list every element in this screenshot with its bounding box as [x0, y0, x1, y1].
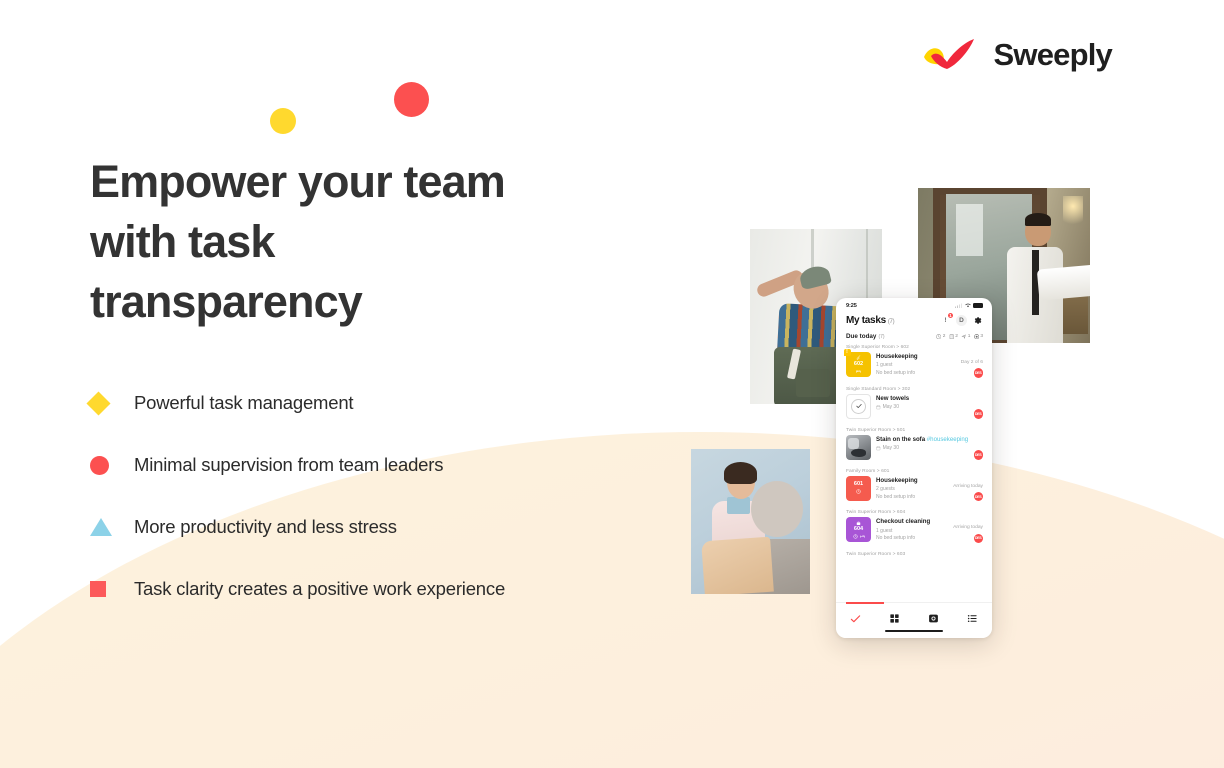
decoration-yellow-dot [270, 108, 296, 134]
calendar-icon [876, 446, 881, 451]
nav-rooms[interactable] [886, 611, 904, 625]
decoration-red-dot [394, 82, 429, 117]
phone-task-count: (7) [888, 319, 894, 325]
list-item-label: More productivity and less stress [134, 516, 397, 538]
section-label-text: Due today [846, 333, 876, 340]
diamond-icon [90, 395, 134, 412]
avatar[interactable]: DES [974, 368, 984, 378]
task-group-label: Twin Superior Room > 501 [846, 428, 983, 433]
room-number: 601 [854, 482, 863, 488]
task-title: Housekeeping [876, 477, 948, 484]
sweeply-bird-checkmark-logo-icon [921, 34, 981, 74]
user-avatar-button[interactable]: D [956, 315, 967, 326]
due-today-row: Due today (7) 2 [836, 333, 992, 340]
task-subtitle: No bed setup info [876, 370, 956, 378]
status-badge-value: 2 [943, 334, 946, 339]
room-number: 604 [854, 527, 863, 533]
clock-icon [856, 489, 861, 495]
broom-icon [856, 355, 861, 361]
triangle-icon [90, 518, 134, 536]
task-title: Checkout cleaning [876, 518, 948, 525]
room-tile[interactable]: ! 602 [846, 352, 871, 377]
task-group-label: Twin Superior Room > 604 [846, 510, 983, 515]
task-title: Housekeeping [876, 353, 956, 360]
section-count: (7) [878, 334, 884, 340]
clock-icon [936, 334, 941, 339]
calendar-icon [876, 405, 881, 410]
nav-list[interactable] [964, 611, 982, 625]
alerts-button[interactable]: ! 1 [940, 315, 951, 326]
bed-icon [856, 368, 861, 374]
settings-button[interactable] [972, 315, 983, 326]
task-meta-column: DES [974, 435, 984, 460]
send-icon [961, 334, 966, 339]
task-group: Single Standard Room > 302 New towels [836, 387, 992, 424]
status-icon [974, 334, 979, 339]
task-group-label: Single Superior Room > 602 [846, 345, 983, 350]
avatar[interactable]: DES [974, 534, 984, 544]
list-item-label: Task clarity creates a positive work exp… [134, 578, 505, 600]
phone-page-title-text: My tasks [846, 315, 886, 326]
circle-icon [90, 456, 134, 475]
task-group-label: Single Standard Room > 302 [846, 387, 983, 392]
status-icon-group [955, 303, 983, 308]
nav-tasks[interactable] [847, 611, 865, 625]
task-hashtag[interactable]: #housekeeping [927, 436, 968, 443]
task-body: Checkout cleaning 1 guest No bed setup i… [876, 517, 948, 543]
status-time: 9:25 [846, 303, 857, 309]
page-title: Empower your team with task transparency [90, 152, 520, 332]
task-title: Stain on the sofa #housekeeping [876, 436, 969, 443]
signal-icon [955, 303, 962, 308]
checkmark-icon [850, 613, 861, 624]
alert-badge: ! [844, 349, 851, 356]
task-date: May 30 [883, 404, 899, 412]
status-badge[interactable]: 2 [949, 334, 958, 339]
task-row[interactable]: 601 Housekeeping 2 guests No bed setup i… [846, 476, 983, 507]
task-subtitle: No bed setup info [876, 494, 948, 502]
phone-mockup: 9:25 My tasks (7) ! [836, 298, 992, 638]
alerts-badge: 1 [947, 312, 954, 319]
battery-icon [973, 303, 983, 308]
photo-linen [691, 449, 810, 594]
task-title-text: Stain on the sofa [876, 436, 925, 443]
slide-root: Sweeply Empower your team with task tran… [0, 0, 1224, 768]
task-subtitle: No bed setup info [876, 535, 948, 543]
section-label: Due today (7) [846, 333, 885, 340]
avatar[interactable]: DES [974, 492, 984, 502]
task-meta-column: Day 2 of 6 DES [961, 352, 983, 378]
task-body: Housekeeping 1 guest No bed setup info [876, 352, 956, 378]
task-meta: Day 2 of 6 [961, 360, 983, 365]
task-meta: Arriving today [953, 525, 983, 530]
task-subtitle: 1 guest [876, 528, 948, 536]
room-tile[interactable]: 604 [846, 517, 871, 542]
task-group: Single Superior Room > 602 ! 602 Houseke [836, 345, 992, 383]
task-subtitle: May 30 [876, 445, 969, 453]
list-icon [967, 613, 978, 624]
wifi-icon [965, 303, 971, 308]
user-avatar-initial: D [959, 317, 964, 324]
task-date: May 30 [883, 445, 899, 453]
building-icon [949, 334, 954, 339]
status-badge-value: 1 [968, 334, 971, 339]
task-photo-thumbnail[interactable] [846, 435, 871, 460]
brand-logo[interactable]: Sweeply [921, 34, 1112, 74]
room-tile[interactable]: 601 [846, 476, 871, 501]
check-icon [851, 399, 866, 414]
task-body: New towels May 30 [876, 394, 969, 412]
task-group-label: Twin Superior Room > 603 [846, 552, 983, 557]
bed-icon [853, 534, 865, 540]
task-row[interactable]: Stain on the sofa #housekeeping May 30 [846, 435, 983, 465]
status-badge-value: 3 [980, 334, 983, 339]
grid-icon [889, 613, 900, 624]
task-row[interactable]: 604 Checkout cleaning 1 guest No bed set… [846, 517, 983, 548]
task-row[interactable]: New towels May 30 DES [846, 394, 983, 424]
phone-header: My tasks (7) ! 1 D [836, 313, 992, 333]
gear-icon [973, 316, 982, 325]
task-subtitle: 2 guests [876, 486, 948, 494]
task-body: Stain on the sofa #housekeeping May 30 [876, 435, 969, 453]
list-item: More productivity and less stress [90, 496, 505, 558]
task-row[interactable]: ! 602 Housekeeping 1 guest No bed setup … [846, 352, 983, 383]
list-item-label: Minimal supervision from team leaders [134, 454, 443, 476]
status-chip-group: 2 2 1 [936, 334, 983, 339]
phone-header-actions: ! 1 D [940, 315, 983, 326]
phone-page-title: My tasks (7) [846, 315, 894, 326]
task-meta: Arriving today [953, 484, 983, 489]
home-indicator[interactable] [885, 630, 943, 632]
task-subtitle: 1 guest [876, 362, 956, 370]
task-group: Twin Superior Room > 603 [836, 552, 992, 557]
list-item: Task clarity creates a positive work exp… [90, 558, 505, 620]
nav-scan[interactable] [925, 611, 943, 625]
square-icon [90, 581, 134, 597]
task-list: Single Superior Room > 602 ! 602 Houseke [836, 345, 992, 557]
status-badge[interactable]: 3 [974, 334, 983, 339]
task-title: New towels [876, 395, 969, 402]
task-meta-column: Arriving today DES [953, 517, 983, 543]
task-body: Housekeeping 2 guests No bed setup info [876, 476, 948, 502]
task-group: Twin Superior Room > 604 604 Checkout [836, 510, 992, 548]
status-badge[interactable]: 2 [936, 334, 945, 339]
status-badge[interactable]: 1 [961, 334, 970, 339]
task-group: Twin Superior Room > 501 Stain on the so… [836, 428, 992, 465]
avatar[interactable]: DES [974, 409, 984, 419]
task-meta-column: Arriving today DES [953, 476, 983, 502]
nav-active-indicator [846, 602, 884, 603]
alerts-glyph: ! [944, 317, 946, 324]
task-subtitle: May 30 [876, 404, 969, 412]
list-item-label: Powerful task management [134, 392, 353, 414]
task-complete-toggle[interactable] [846, 394, 871, 419]
phone-bottom-nav [836, 602, 992, 638]
status-badge-value: 2 [955, 334, 958, 339]
camera-icon [928, 613, 939, 624]
feature-bullet-list: Powerful task management Minimal supervi… [90, 372, 505, 620]
phone-status-bar: 9:25 [836, 298, 992, 313]
task-meta-column: DES [974, 394, 984, 419]
task-group: Family Room > 601 601 Housekeeping 2 gue… [836, 469, 992, 507]
task-group-label: Family Room > 601 [846, 469, 983, 474]
list-item: Powerful task management [90, 372, 505, 434]
avatar[interactable]: DES [974, 450, 984, 460]
brand-name: Sweeply [994, 39, 1112, 70]
room-number: 602 [854, 362, 863, 368]
list-item: Minimal supervision from team leaders [90, 434, 505, 496]
